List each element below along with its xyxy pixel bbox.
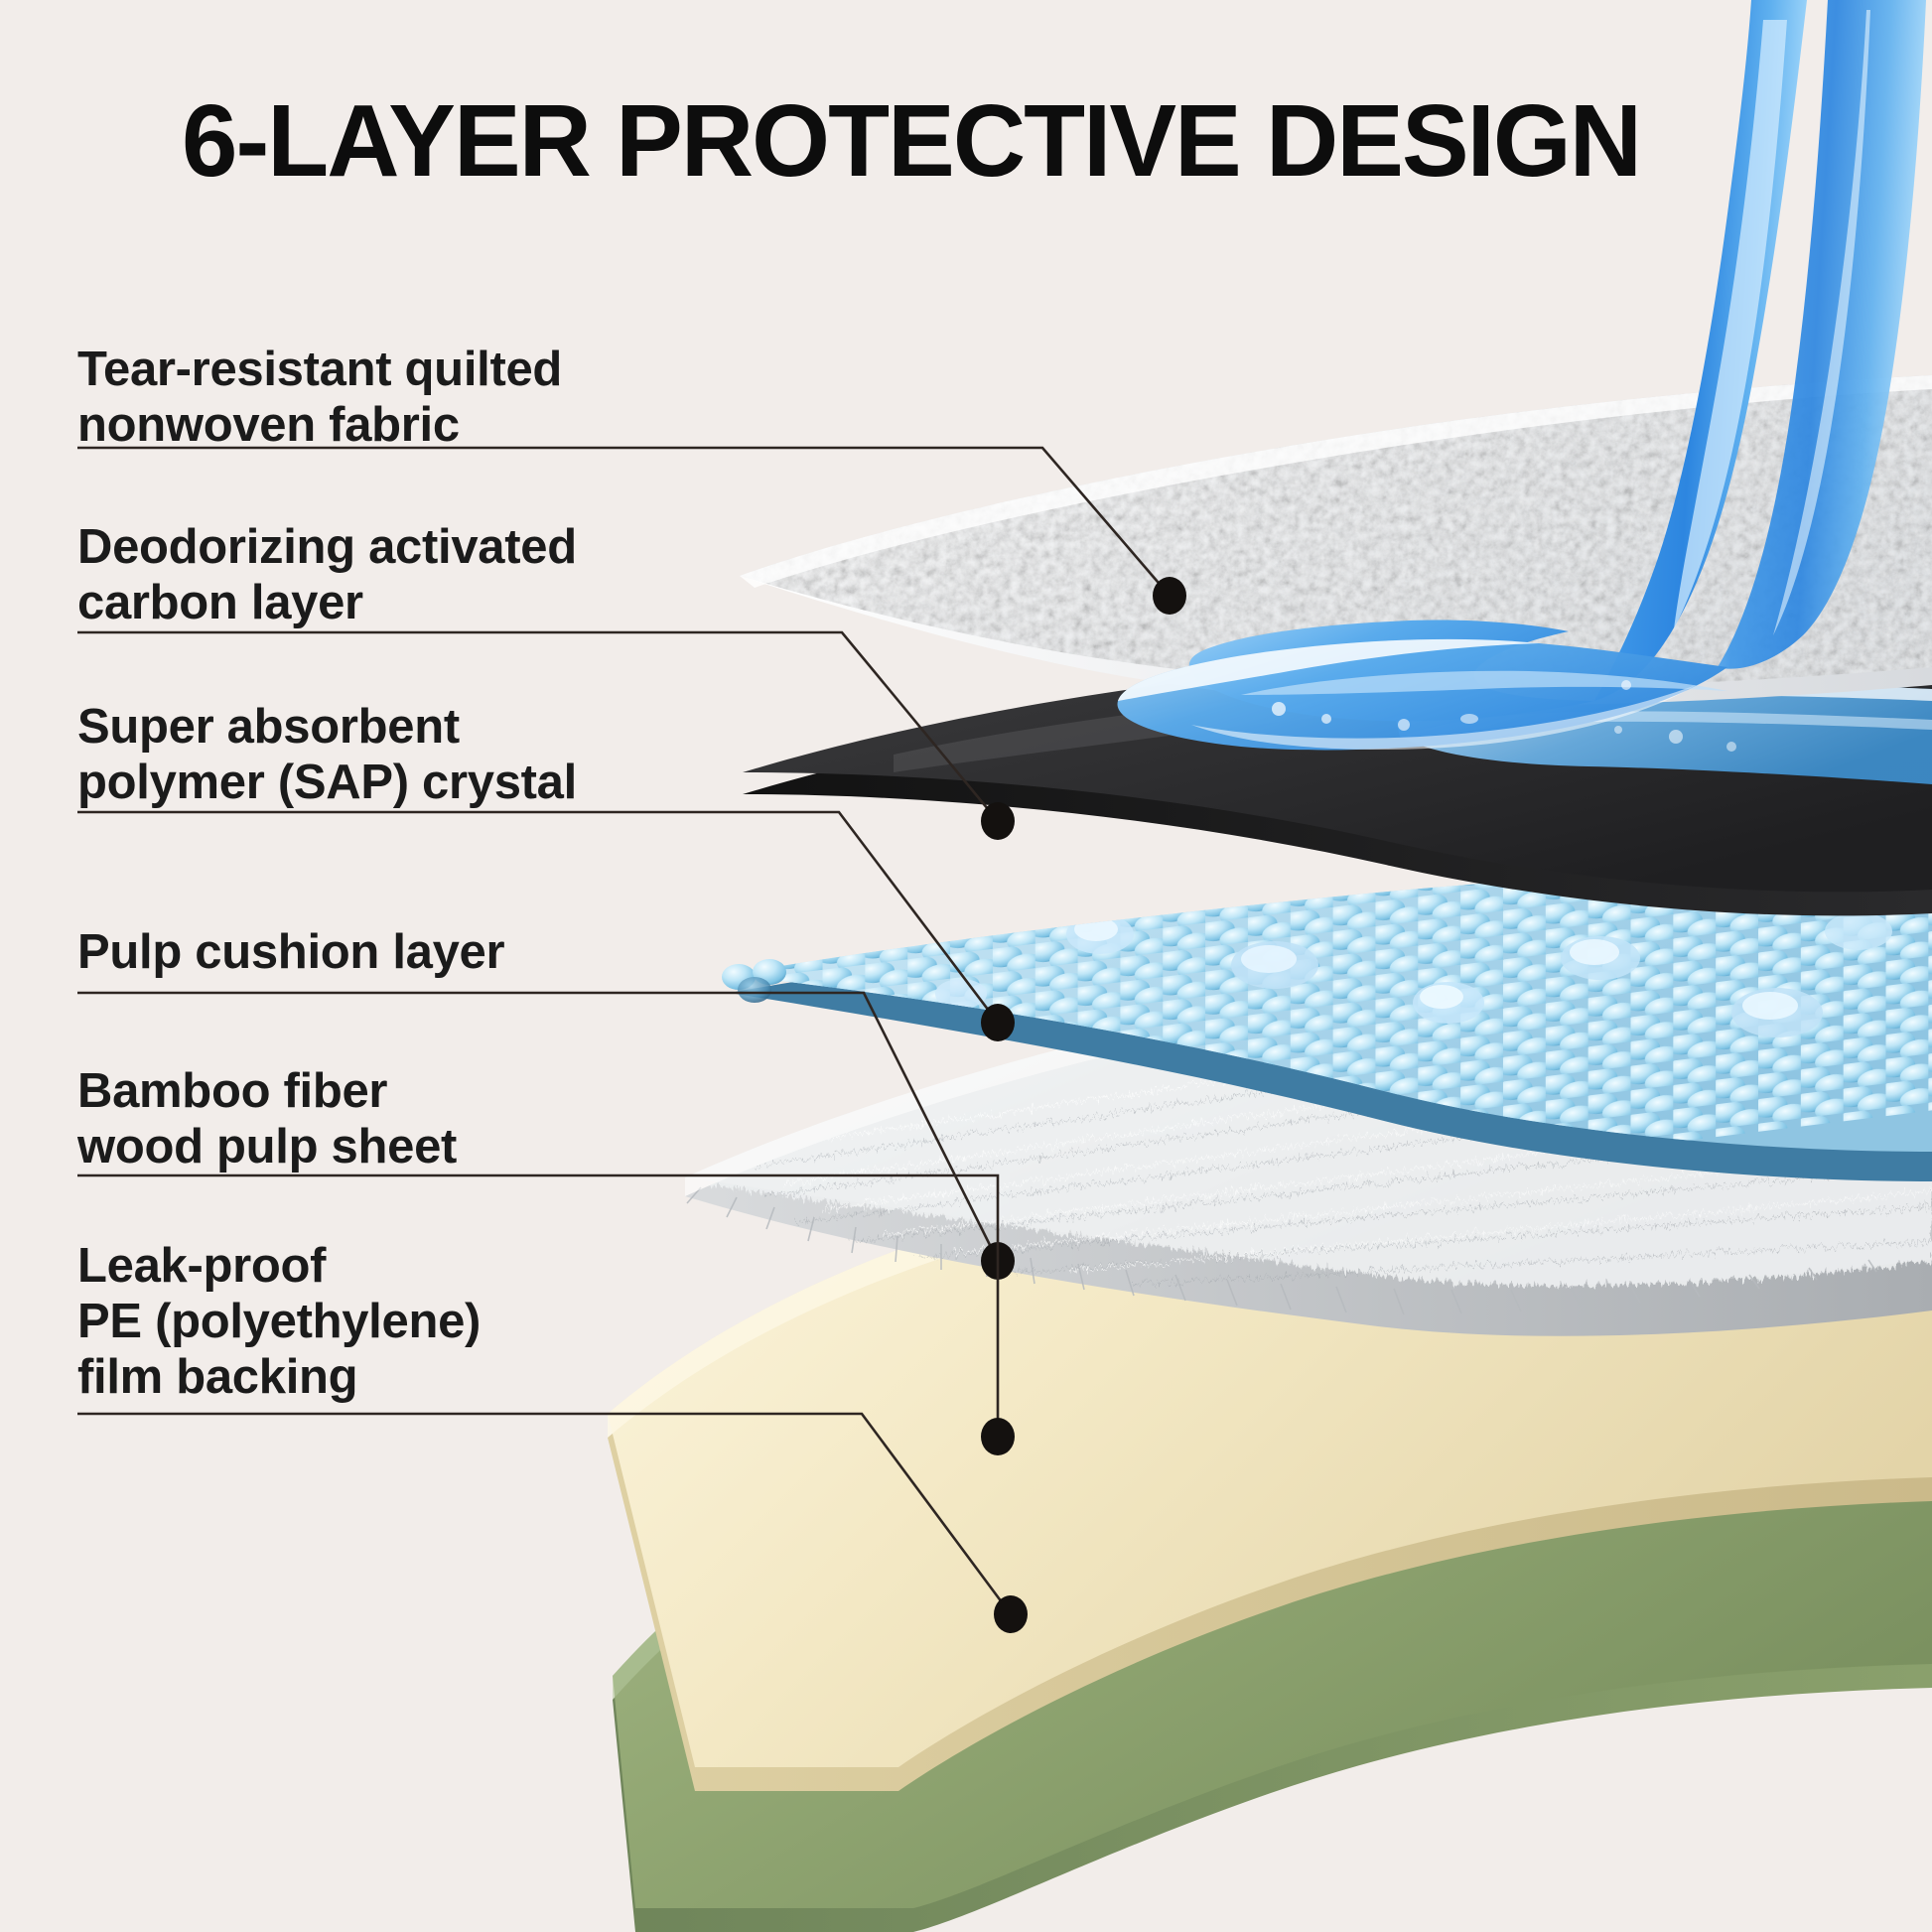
layer-label-2: Deodorizing activated carbon layer [77, 520, 577, 631]
layer-label-6: Leak-proof PE (polyethylene) film backin… [77, 1239, 481, 1406]
infographic-canvas: 6-LAYER PROTECTIVE DESIGN Tear-resistant… [0, 0, 1932, 1932]
layer-label-4: Pulp cushion layer [77, 925, 504, 981]
layer-label-5: Bamboo fiber wood pulp sheet [77, 1064, 457, 1175]
page-title: 6-LAYER PROTECTIVE DESIGN [182, 87, 1640, 195]
layer-label-1: Tear-resistant quilted nonwoven fabric [77, 343, 562, 454]
layer-label-3: Super absorbent polymer (SAP) crystal [77, 700, 577, 811]
